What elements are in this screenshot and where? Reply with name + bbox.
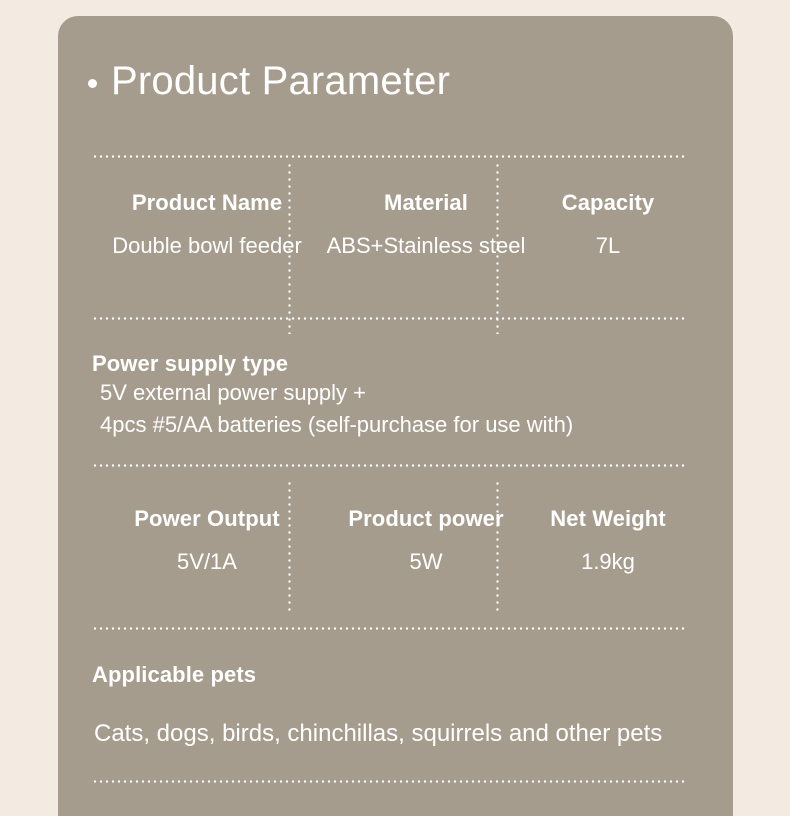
spec-label: Product Name xyxy=(132,190,282,216)
spec-value: 5V/1A xyxy=(177,548,237,576)
spec-value: 5W xyxy=(410,548,443,576)
spec-value: Double bowl feeder xyxy=(112,232,302,260)
product-parameter-card: Product Parameter Product Name Double bo… xyxy=(58,16,733,816)
page-background: Product Parameter Product Name Double bo… xyxy=(0,0,790,803)
spec-cell-power-output: Power Output 5V/1A xyxy=(92,506,322,575)
spec-value: 1.9kg xyxy=(581,548,635,576)
spec-label: Capacity xyxy=(562,190,655,216)
power-supply-line-2: 4pcs #5/AA batteries (self-purchase for … xyxy=(92,409,702,441)
spec-label: Power Output xyxy=(134,506,279,532)
page-title: Product Parameter xyxy=(88,61,450,101)
applicable-pets-label: Applicable pets xyxy=(92,662,702,688)
spec-cell-product-power: Product power 5W xyxy=(322,506,530,575)
applicable-pets-value: Cats, dogs, birds, chinchillas, squirrel… xyxy=(92,720,702,749)
spec-value: ABS+Stainless steel xyxy=(327,232,526,260)
bullet-icon xyxy=(88,79,97,88)
spec-cell-material: Material ABS+Stainless steel xyxy=(322,190,530,259)
power-supply-label: Power supply type xyxy=(92,351,702,377)
power-supply-block: Power supply type 5V external power supp… xyxy=(92,351,702,441)
applicable-pets-block: Applicable pets Cats, dogs, birds, chinc… xyxy=(92,662,702,749)
divider-after-power-supply xyxy=(92,464,686,467)
spec-row-2: Power Output 5V/1A Product power 5W Net … xyxy=(92,506,686,575)
spec-cell-net-weight: Net Weight 1.9kg xyxy=(530,506,686,575)
spec-label: Product power xyxy=(348,506,503,532)
spec-label: Material xyxy=(384,190,468,216)
page-title-text: Product Parameter xyxy=(111,61,450,101)
spec-cell-product-name: Product Name Double bowl feeder xyxy=(92,190,322,259)
spec-label: Net Weight xyxy=(550,506,665,532)
spec-cell-capacity: Capacity 7L xyxy=(530,190,686,259)
spec-row-1: Product Name Double bowl feeder Material… xyxy=(92,190,686,259)
divider-below-title xyxy=(92,155,686,158)
divider-after-row-1 xyxy=(92,317,686,320)
divider-after-row-2 xyxy=(92,627,686,630)
spec-value: 7L xyxy=(596,232,620,260)
power-supply-line-1: 5V external power supply + xyxy=(92,377,702,409)
divider-bottom xyxy=(92,780,686,783)
